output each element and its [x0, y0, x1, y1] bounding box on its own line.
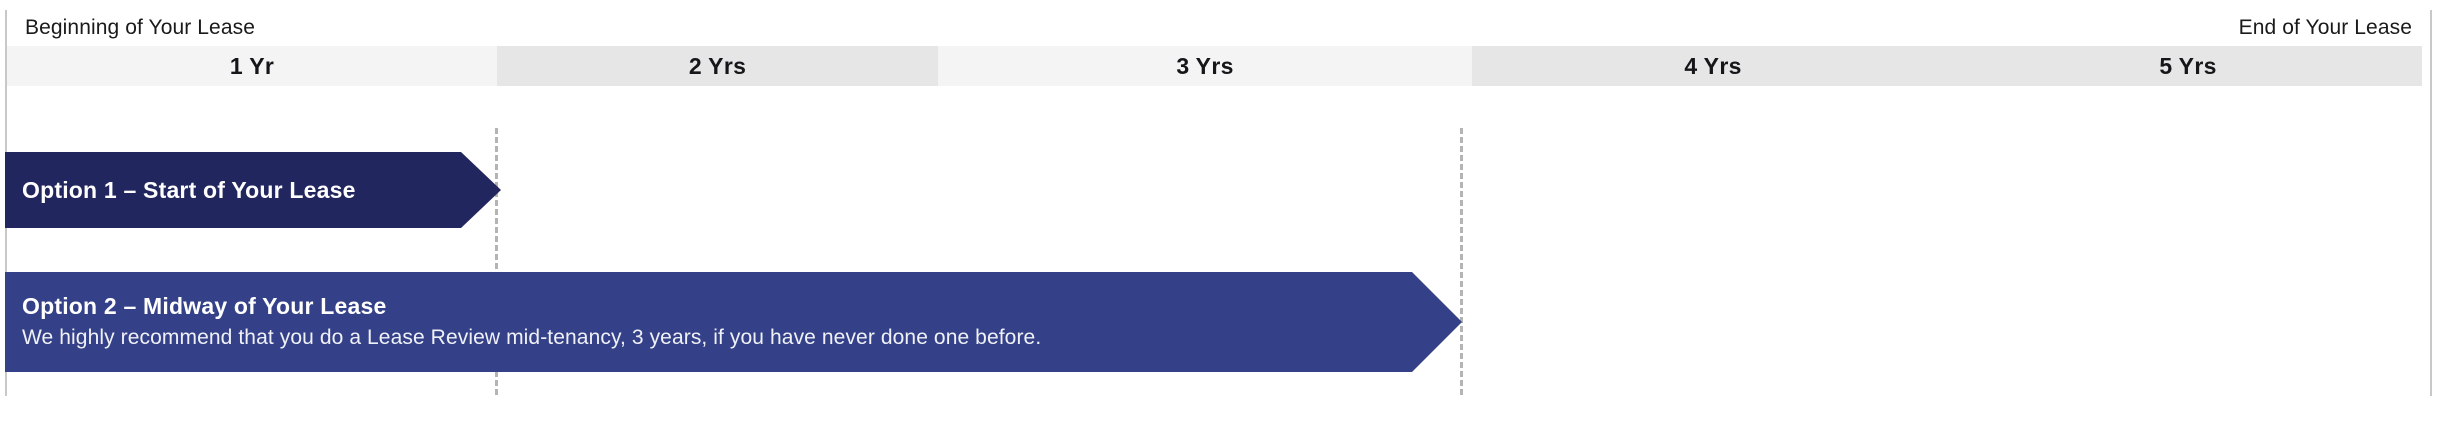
lease-end-label: End of Your Lease	[2239, 16, 2412, 40]
option-2-arrow[interactable]: Option 2 – Midway of Your Lease We highl…	[5, 272, 1462, 372]
year-scale-row: 1 Yr 2 Yrs 3 Yrs 4 Yrs 5 Yrs	[7, 46, 2430, 86]
option-2-text: Option 2 – Midway of Your Lease We highl…	[5, 292, 1462, 351]
year-cell-3: 3 Yrs	[938, 46, 1472, 86]
option-1-arrow[interactable]: Option 1 – Start of Your Lease	[5, 152, 501, 228]
option-2-title: Option 2 – Midway of Your Lease	[22, 292, 1382, 321]
option-1-title: Option 1 – Start of Your Lease	[22, 176, 421, 205]
option-1-text: Option 1 – Start of Your Lease	[5, 176, 501, 205]
option-2-subtitle: We highly recommend that you do a Lease …	[22, 324, 1382, 351]
year-cell-4: 4 Yrs	[1472, 46, 1954, 86]
timeline-endpoints: Beginning of Your Lease End of Your Leas…	[7, 10, 2430, 46]
year-cell-2: 2 Yrs	[497, 46, 938, 86]
year-cell-5: 5 Yrs	[1954, 46, 2422, 86]
lease-review-timeline: Beginning of Your Lease End of Your Leas…	[0, 0, 2438, 426]
year-cell-1: 1 Yr	[7, 46, 497, 86]
lease-start-label: Beginning of Your Lease	[25, 16, 255, 40]
